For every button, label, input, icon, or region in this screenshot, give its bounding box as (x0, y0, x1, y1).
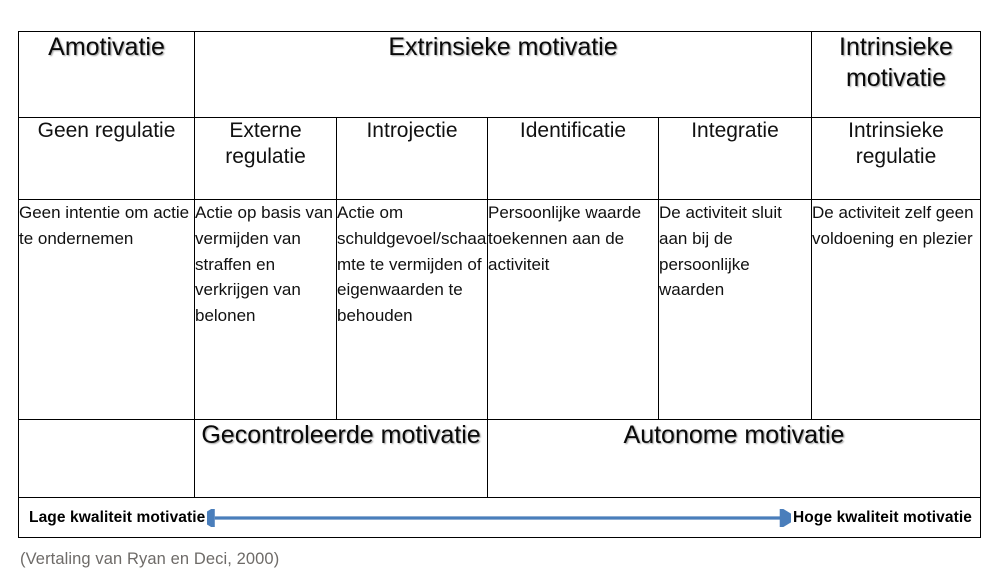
summary-empty (19, 420, 195, 498)
motivation-type-amotivation: Amotivatie (19, 32, 195, 118)
self-determination-table: Amotivatie Extrinsieke motivatie Intrins… (18, 31, 981, 538)
double-arrow-icon (207, 509, 791, 527)
diagram-page: Amotivatie Extrinsieke motivatie Intrins… (0, 0, 990, 575)
regulation-identificatie: Identificatie (488, 118, 659, 200)
quality-axis-cell: Lage kwaliteit motivatie (19, 498, 981, 538)
description-row: Geen intentie om actie te ondernemen Act… (19, 200, 981, 420)
description-intrinsieke-regulatie: De activiteit zelf geen voldoening en pl… (812, 200, 981, 420)
description-introjectie: Actie om schuldgevoel/schaamte te vermij… (337, 200, 488, 420)
quality-axis-wrap: Lage kwaliteit motivatie (19, 498, 980, 537)
description-externe-regulatie: Actie op basis van vermijden van straffe… (195, 200, 337, 420)
regulation-integratie: Integratie (659, 118, 812, 200)
source-caption: (Vertaling van Ryan en Deci, 2000) (20, 550, 279, 569)
regulation-externe-regulatie: Externe regulatie (195, 118, 337, 200)
motivation-type-row: Amotivatie Extrinsieke motivatie Intrins… (19, 32, 981, 118)
motivation-type-intrinsic: Intrinsieke motivatie (812, 32, 981, 118)
summary-autonome-motivatie: Autonome motivatie (488, 420, 981, 498)
quality-axis-low-label: Lage kwaliteit motivatie (29, 509, 205, 527)
quality-axis-high-label: Hoge kwaliteit motivatie (793, 509, 972, 527)
quality-axis-row: Lage kwaliteit motivatie (19, 498, 981, 538)
description-identificatie: Persoonlijke waarde toekennen aan de act… (488, 200, 659, 420)
regulation-geen-regulatie: Geen regulatie (19, 118, 195, 200)
description-geen-regulatie: Geen intentie om actie te ondernemen (19, 200, 195, 420)
regulation-introjectie: Introjectie (337, 118, 488, 200)
regulation-style-row: Geen regulatie Externe regulatie Introje… (19, 118, 981, 200)
summary-row: Gecontroleerde motivatie Autonome motiva… (19, 420, 981, 498)
motivation-type-extrinsic: Extrinsieke motivatie (195, 32, 812, 118)
summary-gecontroleerde-motivatie: Gecontroleerde motivatie (195, 420, 488, 498)
description-integratie: De activiteit sluit aan bij de persoonli… (659, 200, 812, 420)
regulation-intrinsieke-regulatie: Intrinsieke regulatie (812, 118, 981, 200)
